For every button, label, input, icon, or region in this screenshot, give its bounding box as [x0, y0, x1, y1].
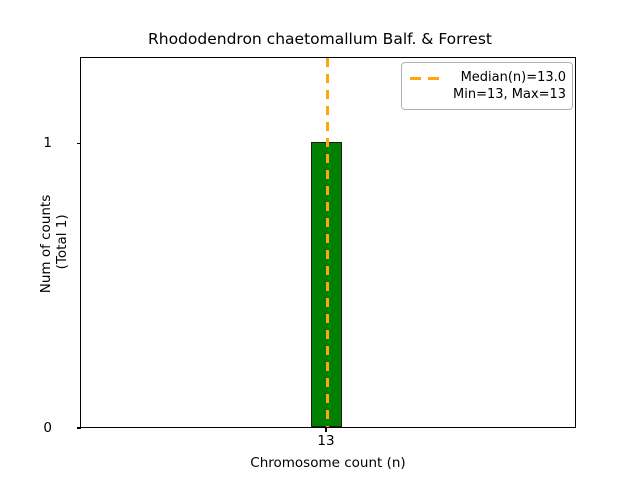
legend-label-median: Median(n)=13.0 [453, 69, 566, 86]
x-axis-label: Chromosome count (n) [80, 455, 576, 471]
plot-area [80, 57, 576, 428]
legend-label-minmax: Min=13, Max=13 [453, 86, 566, 103]
legend-entry-median: Median(n)=13.0 Min=13, Max=13 [453, 69, 566, 103]
x-tick-label-13: 13 [306, 434, 346, 449]
x-tick-mark-13 [325, 428, 326, 432]
y-tick-label-0: 0 [43, 421, 52, 435]
dashed-line-icon [410, 71, 446, 85]
chart-title: Rhododendron chaetomallum Balf. & Forres… [0, 30, 640, 49]
y-axis-label-line1: Num of counts [38, 195, 54, 294]
median-line-icon [326, 58, 329, 428]
y-tick-label-1: 1 [43, 136, 52, 150]
legend: Median(n)=13.0 Min=13, Max=13 [401, 62, 573, 110]
y-axis-label-line2: (Total 1) [54, 214, 70, 273]
chart-figure: Rhododendron chaetomallum Balf. & Forres… [0, 0, 640, 480]
y-axis-label: Num of counts (Total 1) [38, 44, 70, 444]
